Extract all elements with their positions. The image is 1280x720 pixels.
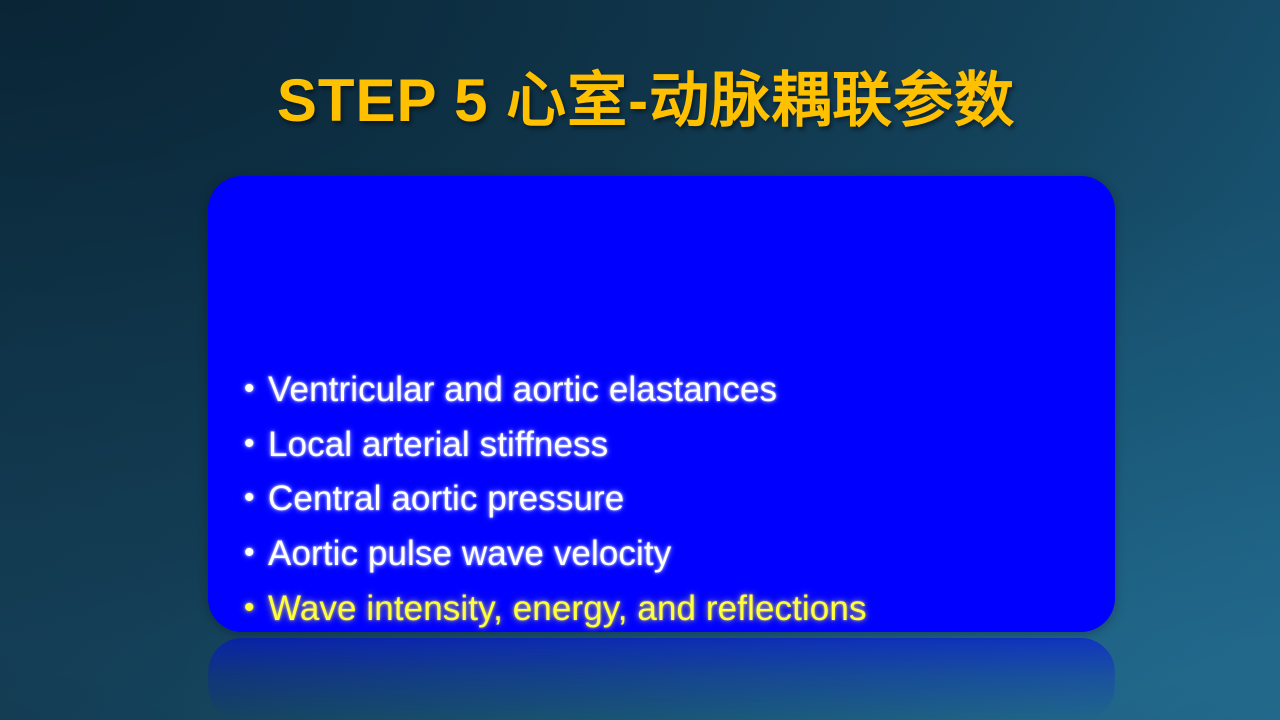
list-item-label: Central aortic pressure xyxy=(268,481,624,516)
list-item-label: Local arterial stiffness xyxy=(268,427,608,462)
panel-reflection: • Aortic wall motion and deformation - v… xyxy=(208,638,1115,720)
list-item: • Local arterial stiffness xyxy=(244,421,608,467)
panel-reflection-surface: • Aortic wall motion and deformation - v… xyxy=(208,638,1115,720)
list-item-label: Ventricular and aortic elastances xyxy=(268,372,777,407)
list-item-label: Wave intensity, energy, and reflections xyxy=(268,591,867,626)
list-item: • Ventricular and aortic elastances xyxy=(244,366,777,412)
bullet-icon: • xyxy=(244,374,268,404)
bullet-icon: • xyxy=(244,593,268,623)
list-item: • Wave intensity, energy, and reflection… xyxy=(244,585,867,631)
list-item: • Aortic pulse wave velocity xyxy=(244,530,671,576)
bullet-icon: • xyxy=(244,429,268,459)
bullet-icon: • xyxy=(244,483,268,513)
content-panel: • Ventricular and aortic elastances • Lo… xyxy=(208,176,1115,632)
list-item-label: Aortic pulse wave velocity xyxy=(268,536,671,571)
presentation-slide: STEP 5 心室-动脉耦联参数 • Ventricular and aorti… xyxy=(0,0,1280,720)
list-item: • Central aortic pressure xyxy=(244,475,624,521)
slide-title: STEP 5 心室-动脉耦联参数 xyxy=(0,52,1280,139)
bullet-icon: • xyxy=(244,538,268,568)
